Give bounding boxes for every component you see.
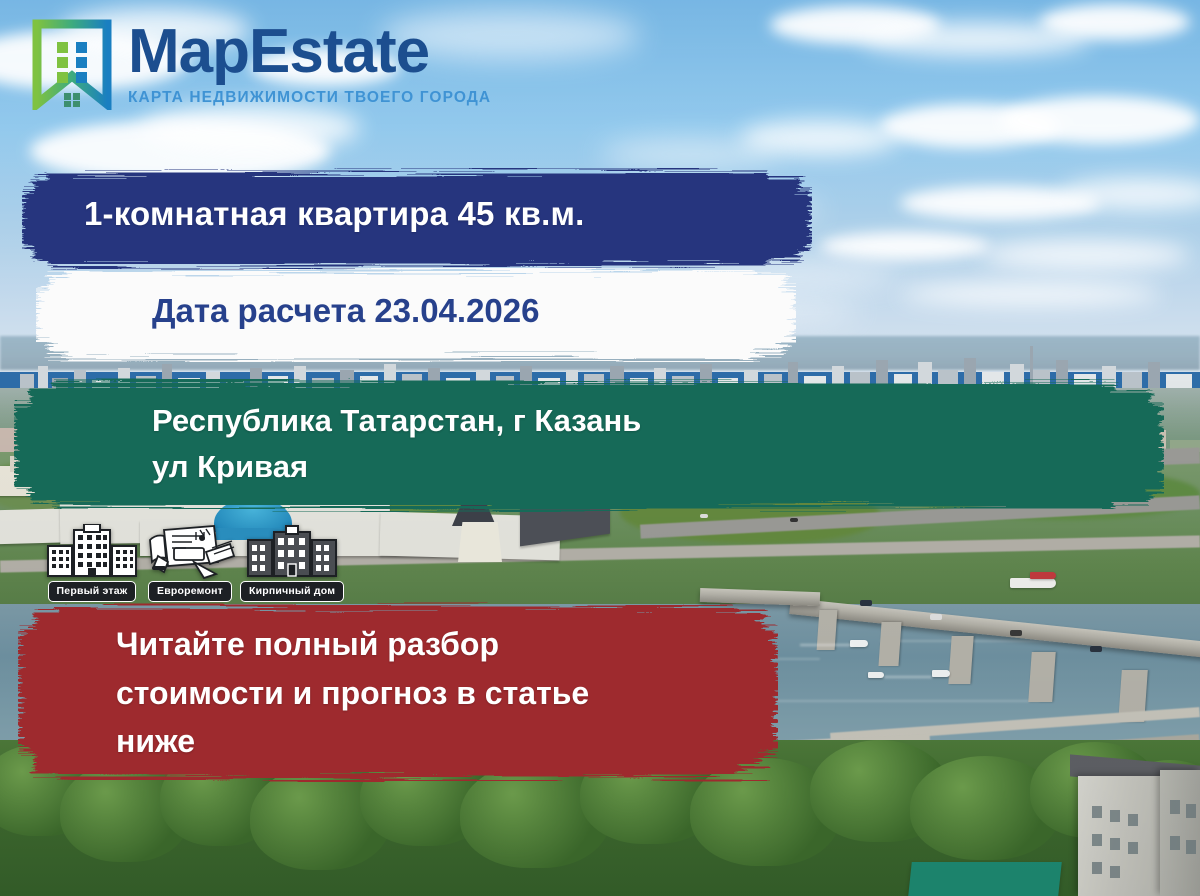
cloud [140, 104, 360, 152]
boat [868, 672, 884, 678]
date-banner: Дата расчета 23.04.2026 [36, 268, 796, 362]
badge-first-floor[interactable]: Первый этаж [44, 524, 140, 602]
renovation-tools-icon [144, 522, 236, 585]
property-banner: 1-комнатная квартира 45 кв.м. [22, 168, 812, 270]
cta-text: Читайте полный разбор стоимости и прогно… [18, 602, 778, 766]
brand-logo[interactable]: MapEstate КАРТА НЕДВИЖИМОСТИ ТВОЕГО ГОРО… [30, 18, 491, 110]
address-banner: Республика Татарстан, г Казань ул Кривая [14, 378, 1164, 512]
property-text: 1-комнатная квартира 45 кв.м. [22, 168, 812, 233]
cta-line-3: ниже [116, 717, 778, 766]
cloud [980, 240, 1190, 270]
address-line-1: Республика Татарстан, г Казань [152, 398, 1164, 444]
brand-title: MapEstate [128, 21, 491, 83]
cta-line-2: стоимости и прогноз в статье [116, 669, 778, 718]
boat [1010, 578, 1056, 588]
address-text: Республика Татарстан, г Казань ул Кривая [14, 378, 1164, 490]
cta-banner: Читайте полный разбор стоимости и прогно… [18, 602, 778, 782]
apartment-building-icon [44, 524, 140, 585]
boat [932, 670, 950, 677]
cloud [1000, 96, 1200, 144]
cloud [600, 140, 780, 168]
badge-brick-house[interactable]: Кирпичный дом [240, 524, 344, 602]
badge-renovation[interactable]: Евроремонт [144, 522, 236, 602]
brick-building-icon [244, 524, 340, 585]
boat [1030, 572, 1056, 579]
brand-tagline: КАРТА НЕДВИЖИМОСТИ ТВОЕГО ГОРОДА [128, 89, 491, 107]
cta-line-1: Читайте полный разбор [116, 620, 778, 669]
cloud [820, 232, 990, 260]
building-bookmark-icon [30, 18, 114, 110]
cloud [1040, 4, 1190, 40]
cloud [900, 282, 1160, 306]
feature-badges: Первый этаж [44, 522, 344, 602]
date-text: Дата расчета 23.04.2026 [36, 268, 796, 330]
address-line-2: ул Кривая [152, 444, 1164, 490]
teal-roof [908, 862, 1062, 896]
